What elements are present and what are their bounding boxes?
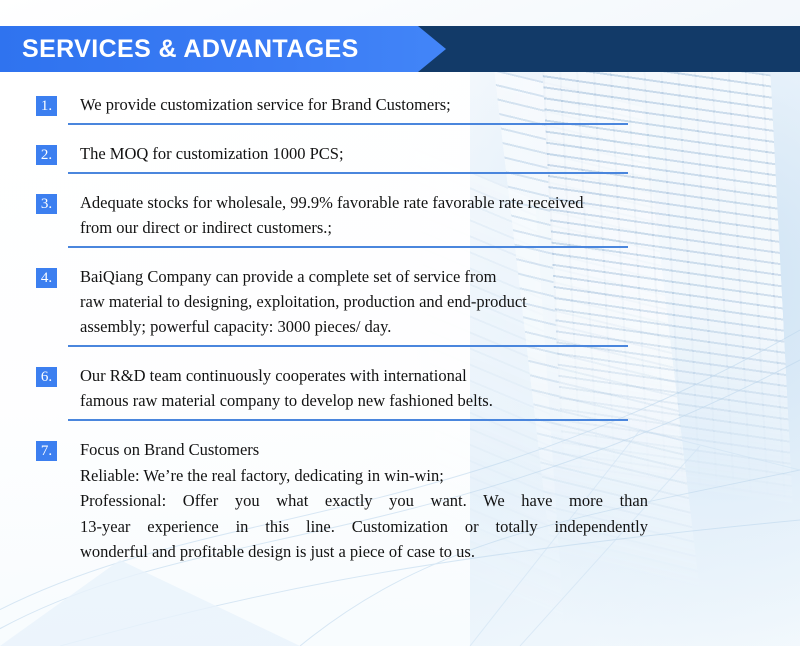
list-item: 1. We provide customization service for … <box>36 92 648 117</box>
list-item-number-badge: 4. <box>36 268 57 288</box>
list-item: 7. Focus on Brand CustomersReliable: We’… <box>36 437 648 565</box>
text-line: raw material to designing, exploitation,… <box>80 289 648 314</box>
list-item-divider <box>68 172 628 174</box>
list-item-number-badge: 1. <box>36 96 57 116</box>
list-item: 2. The MOQ for customization 1000 PCS; <box>36 141 648 166</box>
list-item-divider <box>68 246 628 248</box>
list-item: 6. Our R&D team continuously cooperates … <box>36 363 648 413</box>
text-line: from our direct or indirect customers.; <box>80 215 648 240</box>
text-line: BaiQiang Company can provide a complete … <box>80 264 648 289</box>
page-title: SERVICES & ADVANTAGES <box>22 26 359 72</box>
text-line: The MOQ for customization 1000 PCS; <box>80 141 648 166</box>
services-advantages-page: SERVICES & ADVANTAGES 1. We provide cust… <box>0 0 800 646</box>
list-item-text: Our R&D team continuously cooperates wit… <box>80 363 648 413</box>
list-item-divider <box>68 345 628 347</box>
text-line: Our R&D team continuously cooperates wit… <box>80 363 648 388</box>
list-item-text: We provide customization service for Bra… <box>80 92 648 117</box>
text-line: assembly; powerful capacity: 3000 pieces… <box>80 314 648 339</box>
list-item: 3. Adequate stocks for wholesale, 99.9% … <box>36 190 648 240</box>
advantages-list: 1. We provide customization service for … <box>36 92 648 567</box>
text-line: Focus on Brand Customers <box>80 437 648 463</box>
list-item: 4. BaiQiang Company can provide a comple… <box>36 264 648 339</box>
list-item-divider <box>68 419 628 421</box>
list-item-number-badge: 7. <box>36 441 57 461</box>
list-item-text: The MOQ for customization 1000 PCS; <box>80 141 648 166</box>
text-line: wonderful and profitable design is just … <box>80 539 648 565</box>
list-item-divider <box>68 123 628 125</box>
text-line: Adequate stocks for wholesale, 99.9% fav… <box>80 190 648 215</box>
list-item-text: Focus on Brand CustomersReliable: We’re … <box>80 437 648 565</box>
header-banner: SERVICES & ADVANTAGES <box>0 26 800 72</box>
text-line: famous raw material company to develop n… <box>80 388 648 413</box>
list-item-text: BaiQiang Company can provide a complete … <box>80 264 648 339</box>
text-line: We provide customization service for Bra… <box>80 92 648 117</box>
list-item-number-badge: 6. <box>36 367 57 387</box>
list-item-number-badge: 3. <box>36 194 57 214</box>
text-line: Professional: Offer you what exactly you… <box>80 488 648 514</box>
list-item-text: Adequate stocks for wholesale, 99.9% fav… <box>80 190 648 240</box>
text-line: 13-year experience in this line. Customi… <box>80 514 648 540</box>
list-item-number-badge: 2. <box>36 145 57 165</box>
text-line: Reliable: We’re the real factory, dedica… <box>80 463 648 489</box>
